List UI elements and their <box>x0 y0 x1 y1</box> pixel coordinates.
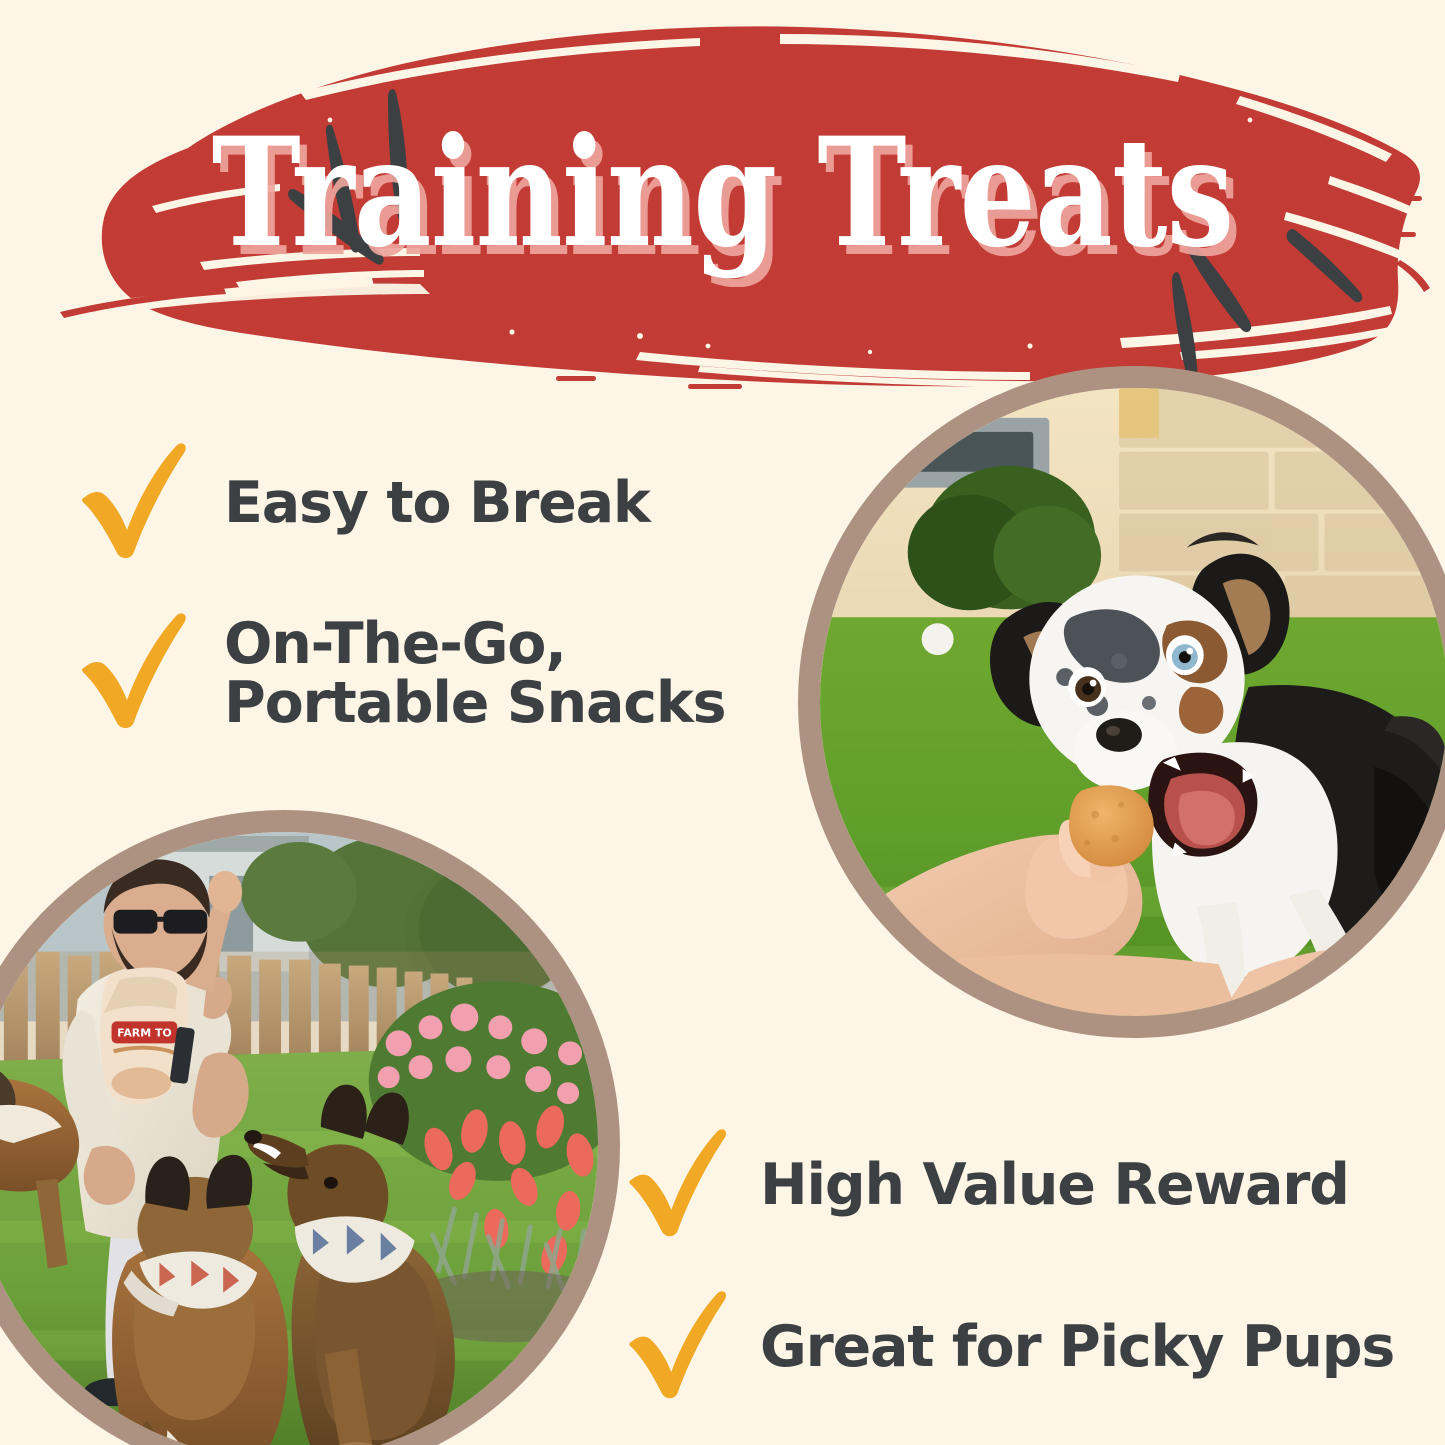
brush-stroke-shape <box>0 0 1445 400</box>
benefit-item-on-the-go: On-The-Go, Portable Snacks <box>72 612 725 735</box>
benefit-label: Easy to Break <box>224 474 650 532</box>
dog-catching-treat-photo <box>798 366 1445 1038</box>
checkmark-icon <box>620 1128 730 1243</box>
benefit-item-high-value-reward: High Value Reward <box>620 1128 1349 1243</box>
benefit-item-easy-to-break: Easy to Break <box>72 442 650 565</box>
bag-brand-text: FARM TO <box>117 1026 172 1039</box>
checkmark-icon <box>620 1290 730 1405</box>
header-banner: Training Treats <box>0 0 1445 400</box>
treat-shape <box>1069 785 1154 866</box>
benefit-label: On-The-Go, Portable Snacks <box>224 615 725 731</box>
benefit-item-picky-pups: Great for Picky Pups <box>620 1290 1394 1405</box>
man-training-dogs-photo: FARM TO <box>0 810 620 1445</box>
benefit-label: Great for Picky Pups <box>760 1318 1394 1376</box>
checkmark-icon <box>72 612 190 735</box>
benefit-label: High Value Reward <box>760 1156 1349 1214</box>
checkmark-icon <box>72 442 190 565</box>
training-treats-poster: Training Treats Easy to Break On-The-Go,… <box>0 0 1445 1445</box>
